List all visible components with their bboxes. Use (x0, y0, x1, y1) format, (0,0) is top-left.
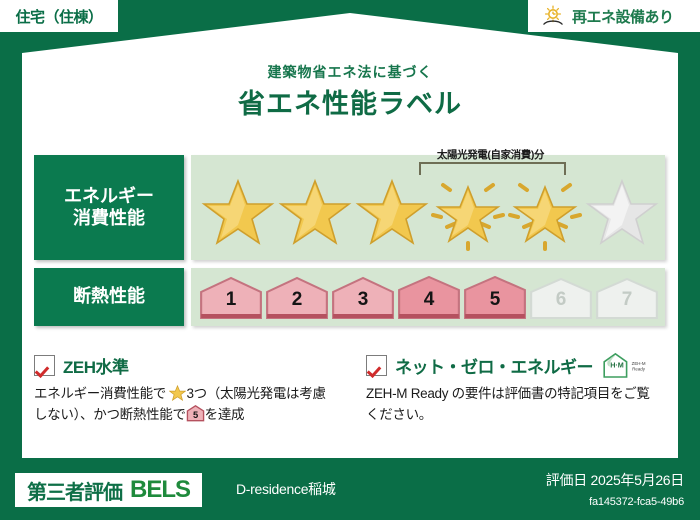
svg-text:Ready: Ready (632, 367, 645, 372)
insulation-level-2-value: 2 (265, 288, 329, 310)
net-zero-checkbox-icon (366, 355, 387, 376)
evaluation-date: 評価日 2025年5月26日 (546, 470, 684, 490)
star-4-solar (431, 175, 505, 251)
zeh-standard-title: ZEH水準 (63, 353, 129, 378)
star-6-empty (585, 175, 659, 251)
energy-label-line2: 消費性能 (73, 208, 145, 230)
energy-performance-row: エネルギー 消費性能 太陽光発電(自家消費)分 (34, 155, 665, 260)
renewable-equipment-tag: 再エネ設備あり (528, 0, 700, 32)
energy-performance-label: エネルギー 消費性能 (34, 155, 184, 260)
net-zero-energy-note: ネット・ゼロ・エネルギー H·M ZEH-M Ready ZEH-M Ready… (352, 352, 670, 426)
insulation-level-1-value: 1 (199, 288, 263, 310)
insulation-level-4: 4 (397, 276, 461, 320)
net-zero-head: ネット・ゼロ・エネルギー H·M ZEH-M Ready (366, 352, 656, 378)
zeh-body-part3: を達成 (205, 407, 245, 422)
energy-stars-panel: 太陽光発電(自家消費)分 (191, 155, 665, 260)
insulation-label-text: 断熱性能 (73, 286, 145, 308)
star-5-solar (508, 175, 582, 251)
inline-gold-star-icon (169, 385, 186, 401)
star-rating (201, 173, 659, 253)
insulation-levels-panel: 1 2 3 (191, 268, 665, 326)
insulation-level-2: 2 (265, 276, 329, 320)
star-2 (278, 175, 352, 251)
insulation-level-7: 7 (595, 276, 659, 320)
evaluation-id: fa145372-fca5-49b6 (589, 496, 684, 508)
insulation-level-5: 5 (463, 276, 527, 320)
net-zero-body: ZEH-M Ready の要件は評価書の特記項目をご覧ください。 (366, 384, 656, 426)
insulation-level-3: 3 (331, 276, 395, 320)
insulation-level-scale: 1 2 3 (199, 274, 659, 321)
label-title: 省エネ性能ラベル (0, 82, 700, 121)
insulation-level-4-value: 4 (397, 288, 461, 310)
solar-annotation-text: 太陽光発電(自家消費)分 (413, 147, 568, 162)
energy-label-card: 住宅（住棟） 再エネ設備あり 建築物省エネ法に基づく 省エネ性能ラベル エネルギ… (0, 0, 700, 520)
zeh-m-ready-logo-icon: H·M ZEH-M Ready (601, 351, 649, 379)
energy-label-line1: エネルギー (64, 186, 154, 208)
bels-jp-label: 第三者評価 (27, 476, 122, 505)
svg-text:ZEH-M: ZEH-M (632, 361, 646, 366)
net-zero-title: ネット・ゼロ・エネルギー (395, 353, 593, 378)
bels-badge: 第三者評価 BELS (15, 473, 202, 507)
bels-en-label: BELS (130, 476, 190, 504)
label-subtitle: 建築物省エネ法に基づく (0, 62, 700, 82)
insulation-level-6: 6 (529, 276, 593, 320)
insulation-level-6-value: 6 (529, 288, 593, 310)
zeh-standard-head: ZEH水準 (34, 352, 338, 378)
insulation-performance-label: 断熱性能 (34, 268, 184, 326)
insulation-level-1: 1 (199, 276, 263, 320)
building-name: D-residence稲城 (236, 479, 336, 499)
renewable-equipment-label: 再エネ設備あり (572, 6, 674, 27)
zeh-standard-body: エネルギー消費性能で 3つ（太陽光発電は考慮しない）、かつ断熱性能で 5 を達成 (34, 384, 338, 426)
svg-text:5: 5 (193, 410, 198, 420)
housing-type-label: 住宅（住棟） (15, 6, 102, 27)
notes-section: ZEH水準 エネルギー消費性能で 3つ（太陽光発電は考慮しない）、かつ断熱性能で… (34, 352, 670, 426)
zeh-body-part1: エネルギー消費性能で (34, 386, 166, 401)
inline-house-badge-icon: 5 (186, 405, 205, 422)
insulation-level-3-value: 3 (331, 288, 395, 310)
zeh-standard-checkbox-icon (34, 355, 55, 376)
star-3 (355, 175, 429, 251)
star-1 (201, 175, 275, 251)
svg-text:H·M: H·M (610, 360, 624, 369)
sun-solar-icon (540, 4, 566, 28)
insulation-level-5-value: 5 (463, 288, 527, 310)
zeh-standard-note: ZEH水準 エネルギー消費性能で 3つ（太陽光発電は考慮しない）、かつ断熱性能で… (34, 352, 352, 426)
insulation-level-7-value: 7 (595, 288, 659, 310)
insulation-performance-row: 断熱性能 1 2 (34, 268, 665, 326)
housing-type-tag: 住宅（住棟） (0, 0, 118, 32)
